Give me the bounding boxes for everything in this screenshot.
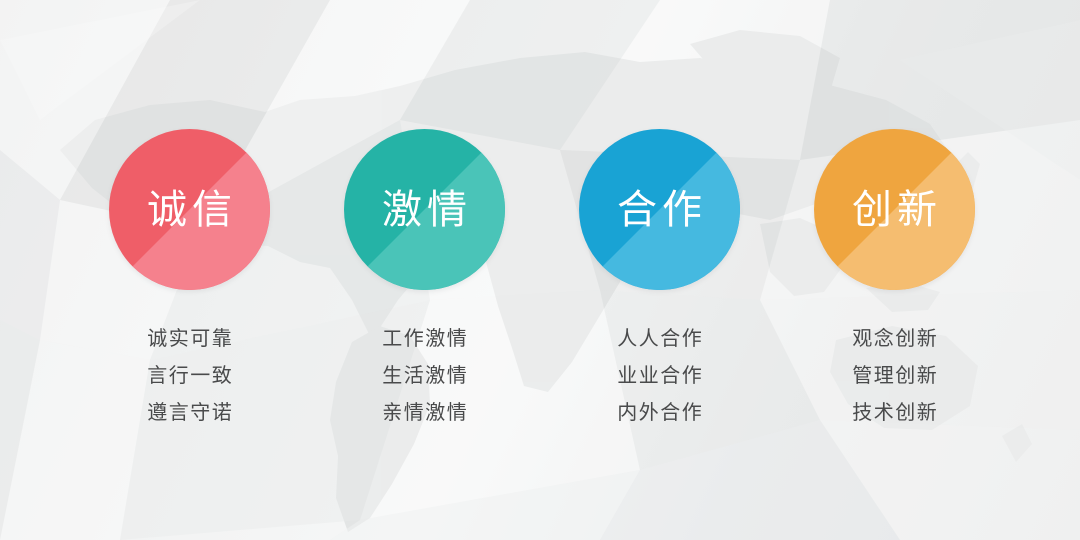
desc-line: 业业合作 [542,358,777,395]
desc-line: 工作激情 [307,321,542,358]
desc-line: 技术创新 [777,395,1012,432]
desc-line: 言行一致 [72,358,307,395]
desc-line: 人人合作 [542,321,777,358]
values-row: 诚信 诚实可靠 言行一致 遵言守诺 激情 工作激情 生活激情 亲情激情 [0,129,1080,291]
value-card-integrity[interactable]: 诚信 诚实可靠 言行一致 遵言守诺 [72,129,307,291]
desc-line: 管理创新 [777,358,1012,395]
desc-line: 诚实可靠 [72,321,307,358]
description-cooperation: 人人合作 业业合作 内外合作 [542,321,777,432]
circle-label-innovation: 创新 [777,129,1012,290]
value-card-innovation[interactable]: 创新 观念创新 管理创新 技术创新 [777,129,1012,291]
desc-line: 生活激情 [307,358,542,395]
circle-label-cooperation: 合作 [542,129,777,290]
desc-line: 亲情激情 [307,395,542,432]
description-innovation: 观念创新 管理创新 技术创新 [777,321,1012,432]
desc-line: 遵言守诺 [72,395,307,432]
value-card-passion[interactable]: 激情 工作激情 生活激情 亲情激情 [307,129,542,291]
desc-line: 内外合作 [542,395,777,432]
desc-line: 观念创新 [777,321,1012,358]
description-passion: 工作激情 生活激情 亲情激情 [307,321,542,432]
value-card-cooperation[interactable]: 合作 人人合作 业业合作 内外合作 [542,129,777,291]
circle-label-integrity: 诚信 [72,129,307,290]
description-integrity: 诚实可靠 言行一致 遵言守诺 [72,321,307,432]
values-slide: 诚信 诚实可靠 言行一致 遵言守诺 激情 工作激情 生活激情 亲情激情 [0,0,1080,540]
circle-label-passion: 激情 [307,129,542,290]
